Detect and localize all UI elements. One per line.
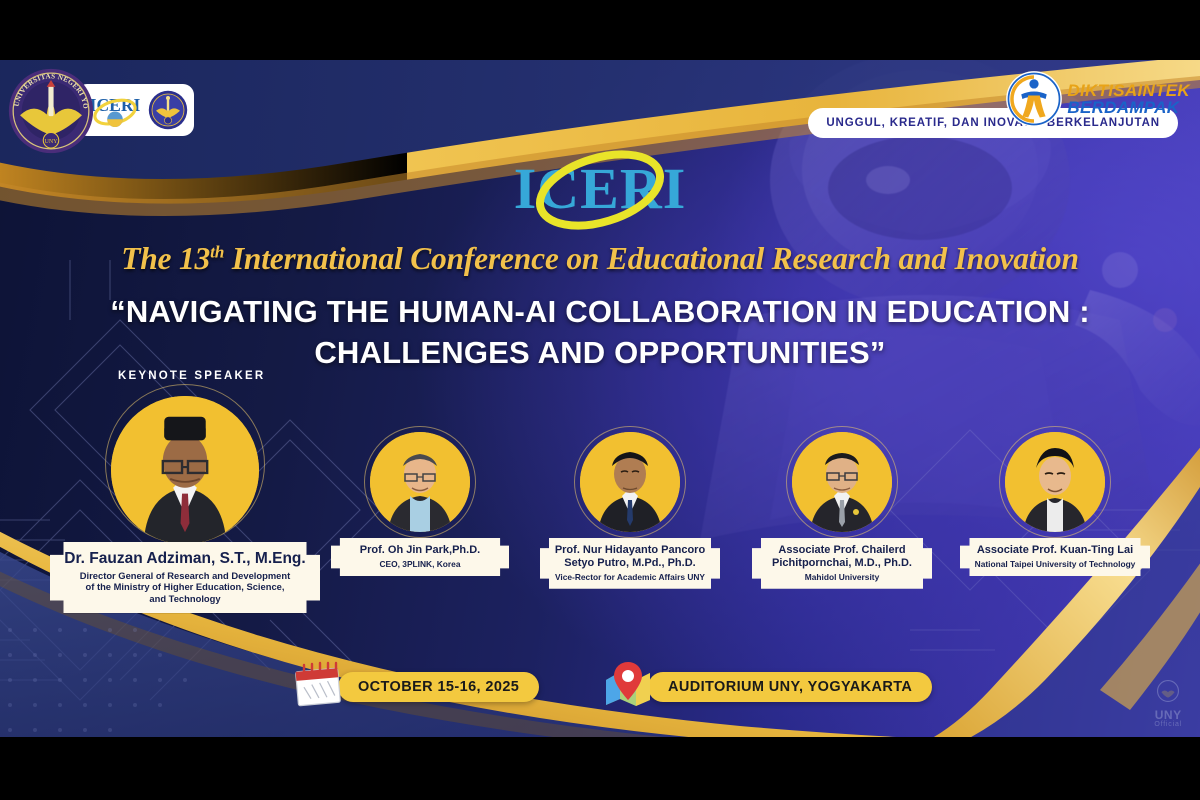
uny-seal-logo: UNY UNIVERSITAS NEGERI YOGYAKARTA [8,68,94,154]
speaker-affiliation-1: Director General of Research and Develop… [60,570,310,604]
diktisaintek-wordmark: DIKTISAINTEK BERDAMPAK [1067,82,1190,116]
speaker-info-card-3: Prof. Nur Hidayanto Pancoro Setyo Putro,… [540,538,720,589]
speaker-info-card-2: Prof. Oh Jin Park,Ph.D. CEO, 3PLINK, Kor… [331,538,509,576]
uny-watermark-seal-icon [1157,680,1179,702]
event-date-pill: OCTOBER 15-16, 2025 [338,672,539,702]
event-venue-pill: AUDITORIUM UNY, YOGYAKARTA [648,672,932,702]
theme-line-1: “NAVIGATING THE HUMAN-AI COLLABORATION I… [0,292,1200,333]
speaker-info-card-4: Associate Prof. Chailerd Pichitpornchai,… [752,538,932,589]
keynote-speaker-label: KEYNOTE SPEAKER [118,370,265,382]
conference-title-post: International Conference on Educational … [224,241,1079,276]
letterbox-bottom [0,737,1200,800]
svg-text:UNY: UNY [44,139,58,145]
calendar-icon [292,660,344,710]
watermark-line2: Official [1154,721,1182,728]
conference-title-pre: The 13 [121,241,210,276]
conference-title-ordinal: th [210,243,224,262]
conference-poster: ICERI UNY [0,60,1200,737]
map-pin-icon [600,660,656,708]
diktisaintek-line1: DIKTISAINTEK [1067,82,1190,99]
speaker-photo-4 [792,432,892,532]
speaker-info-card-1: Dr. Fauzan Adziman, S.T., M.Eng. Directo… [50,542,320,613]
speaker-name-1: Dr. Fauzan Adziman, S.T., M.Eng. [60,550,310,568]
speaker-name-4: Associate Prof. Chailerd Pichitpornchai,… [760,544,924,570]
speaker-info-card-5: Associate Prof. Kuan-Ting Lai National T… [960,538,1150,576]
speaker-photo-1 [111,396,259,544]
speaker-name-3: Prof. Nur Hidayanto Pancoro Setyo Putro,… [548,544,712,570]
watermark-line1: UNY [1154,709,1182,721]
theme-line-2: CHALLENGES AND OPPORTUNITIES” [0,333,1200,374]
letterbox-top [0,0,1200,60]
speaker-name-5: Associate Prof. Kuan-Ting Lai [968,544,1142,557]
speaker-affiliation-4: Mahidol University [760,572,924,582]
iceri-hero-logo: ICERI ICERI [505,142,695,238]
diktisaintek-line2: BERDAMPAK [1067,99,1190,116]
uny-official-watermark: UNY Official [1154,680,1182,728]
speaker-affiliation-5: National Taipei University of Technology [968,559,1142,569]
speaker-photo-2 [370,432,470,532]
speakers-row: Dr. Fauzan Adziman, S.T., M.Eng. Directo… [0,390,1200,640]
speaker-photo-3 [580,432,680,532]
partner-seal-logo [148,90,188,130]
speaker-name-2: Prof. Oh Jin Park,Ph.D. [339,544,501,557]
conference-theme: “NAVIGATING THE HUMAN-AI COLLABORATION I… [0,292,1200,374]
speaker-affiliation-3: Vice-Rector for Academic Affairs UNY [548,572,712,582]
speaker-photo-5 [1005,432,1105,532]
diktisaintek-mark-icon [1005,70,1063,128]
diktisaintek-logo: DIKTISAINTEK BERDAMPAK [1005,66,1190,132]
video-frame: ICERI UNY [0,0,1200,800]
speaker-affiliation-2: CEO, 3PLINK, Korea [339,559,501,569]
conference-title: The 13th International Conference on Edu… [0,241,1200,277]
